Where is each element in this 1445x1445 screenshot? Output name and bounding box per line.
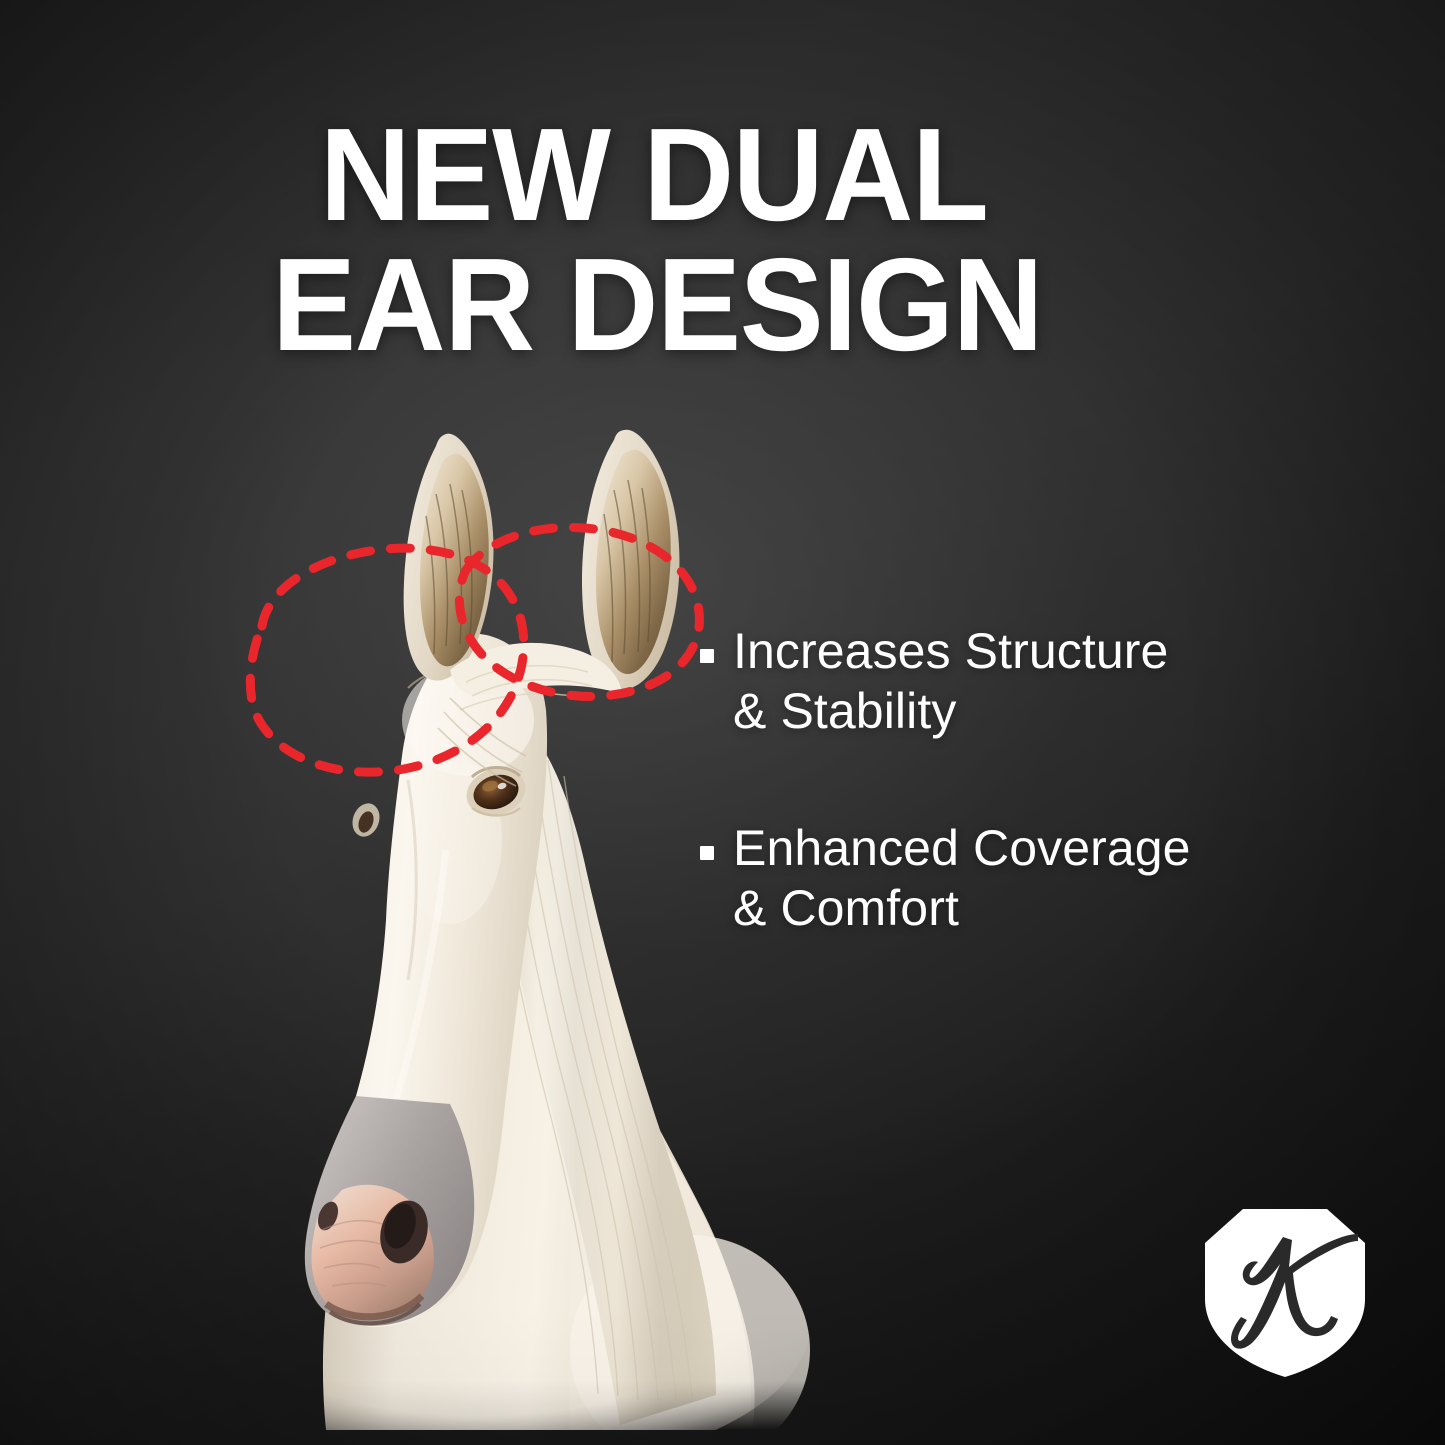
square-bullet-icon [700,846,714,860]
horse-right-ear [582,430,679,690]
page-title: NEW DUAL EAR DESIGN [272,110,1170,370]
shield-shape [1205,1209,1365,1377]
list-item: Increases Structure & Stability [700,622,1380,741]
list-item-label: Increases Structure & Stability [733,622,1168,741]
feature-list: Increases Structure & Stability Enhanced… [700,622,1380,938]
shield-k-logo-icon [1199,1203,1371,1381]
headline-line-2: EAR DESIGN [272,240,1170,370]
square-bullet-icon [700,649,714,663]
shield-k-logo [1199,1203,1371,1381]
list-item-label: Enhanced Coverage & Comfort [733,819,1191,938]
list-item: Enhanced Coverage & Comfort [700,819,1380,938]
ad-canvas: NEW DUAL EAR DESIGN Increases Structure … [0,0,1445,1445]
headline-line-1: NEW DUAL [272,110,1170,240]
